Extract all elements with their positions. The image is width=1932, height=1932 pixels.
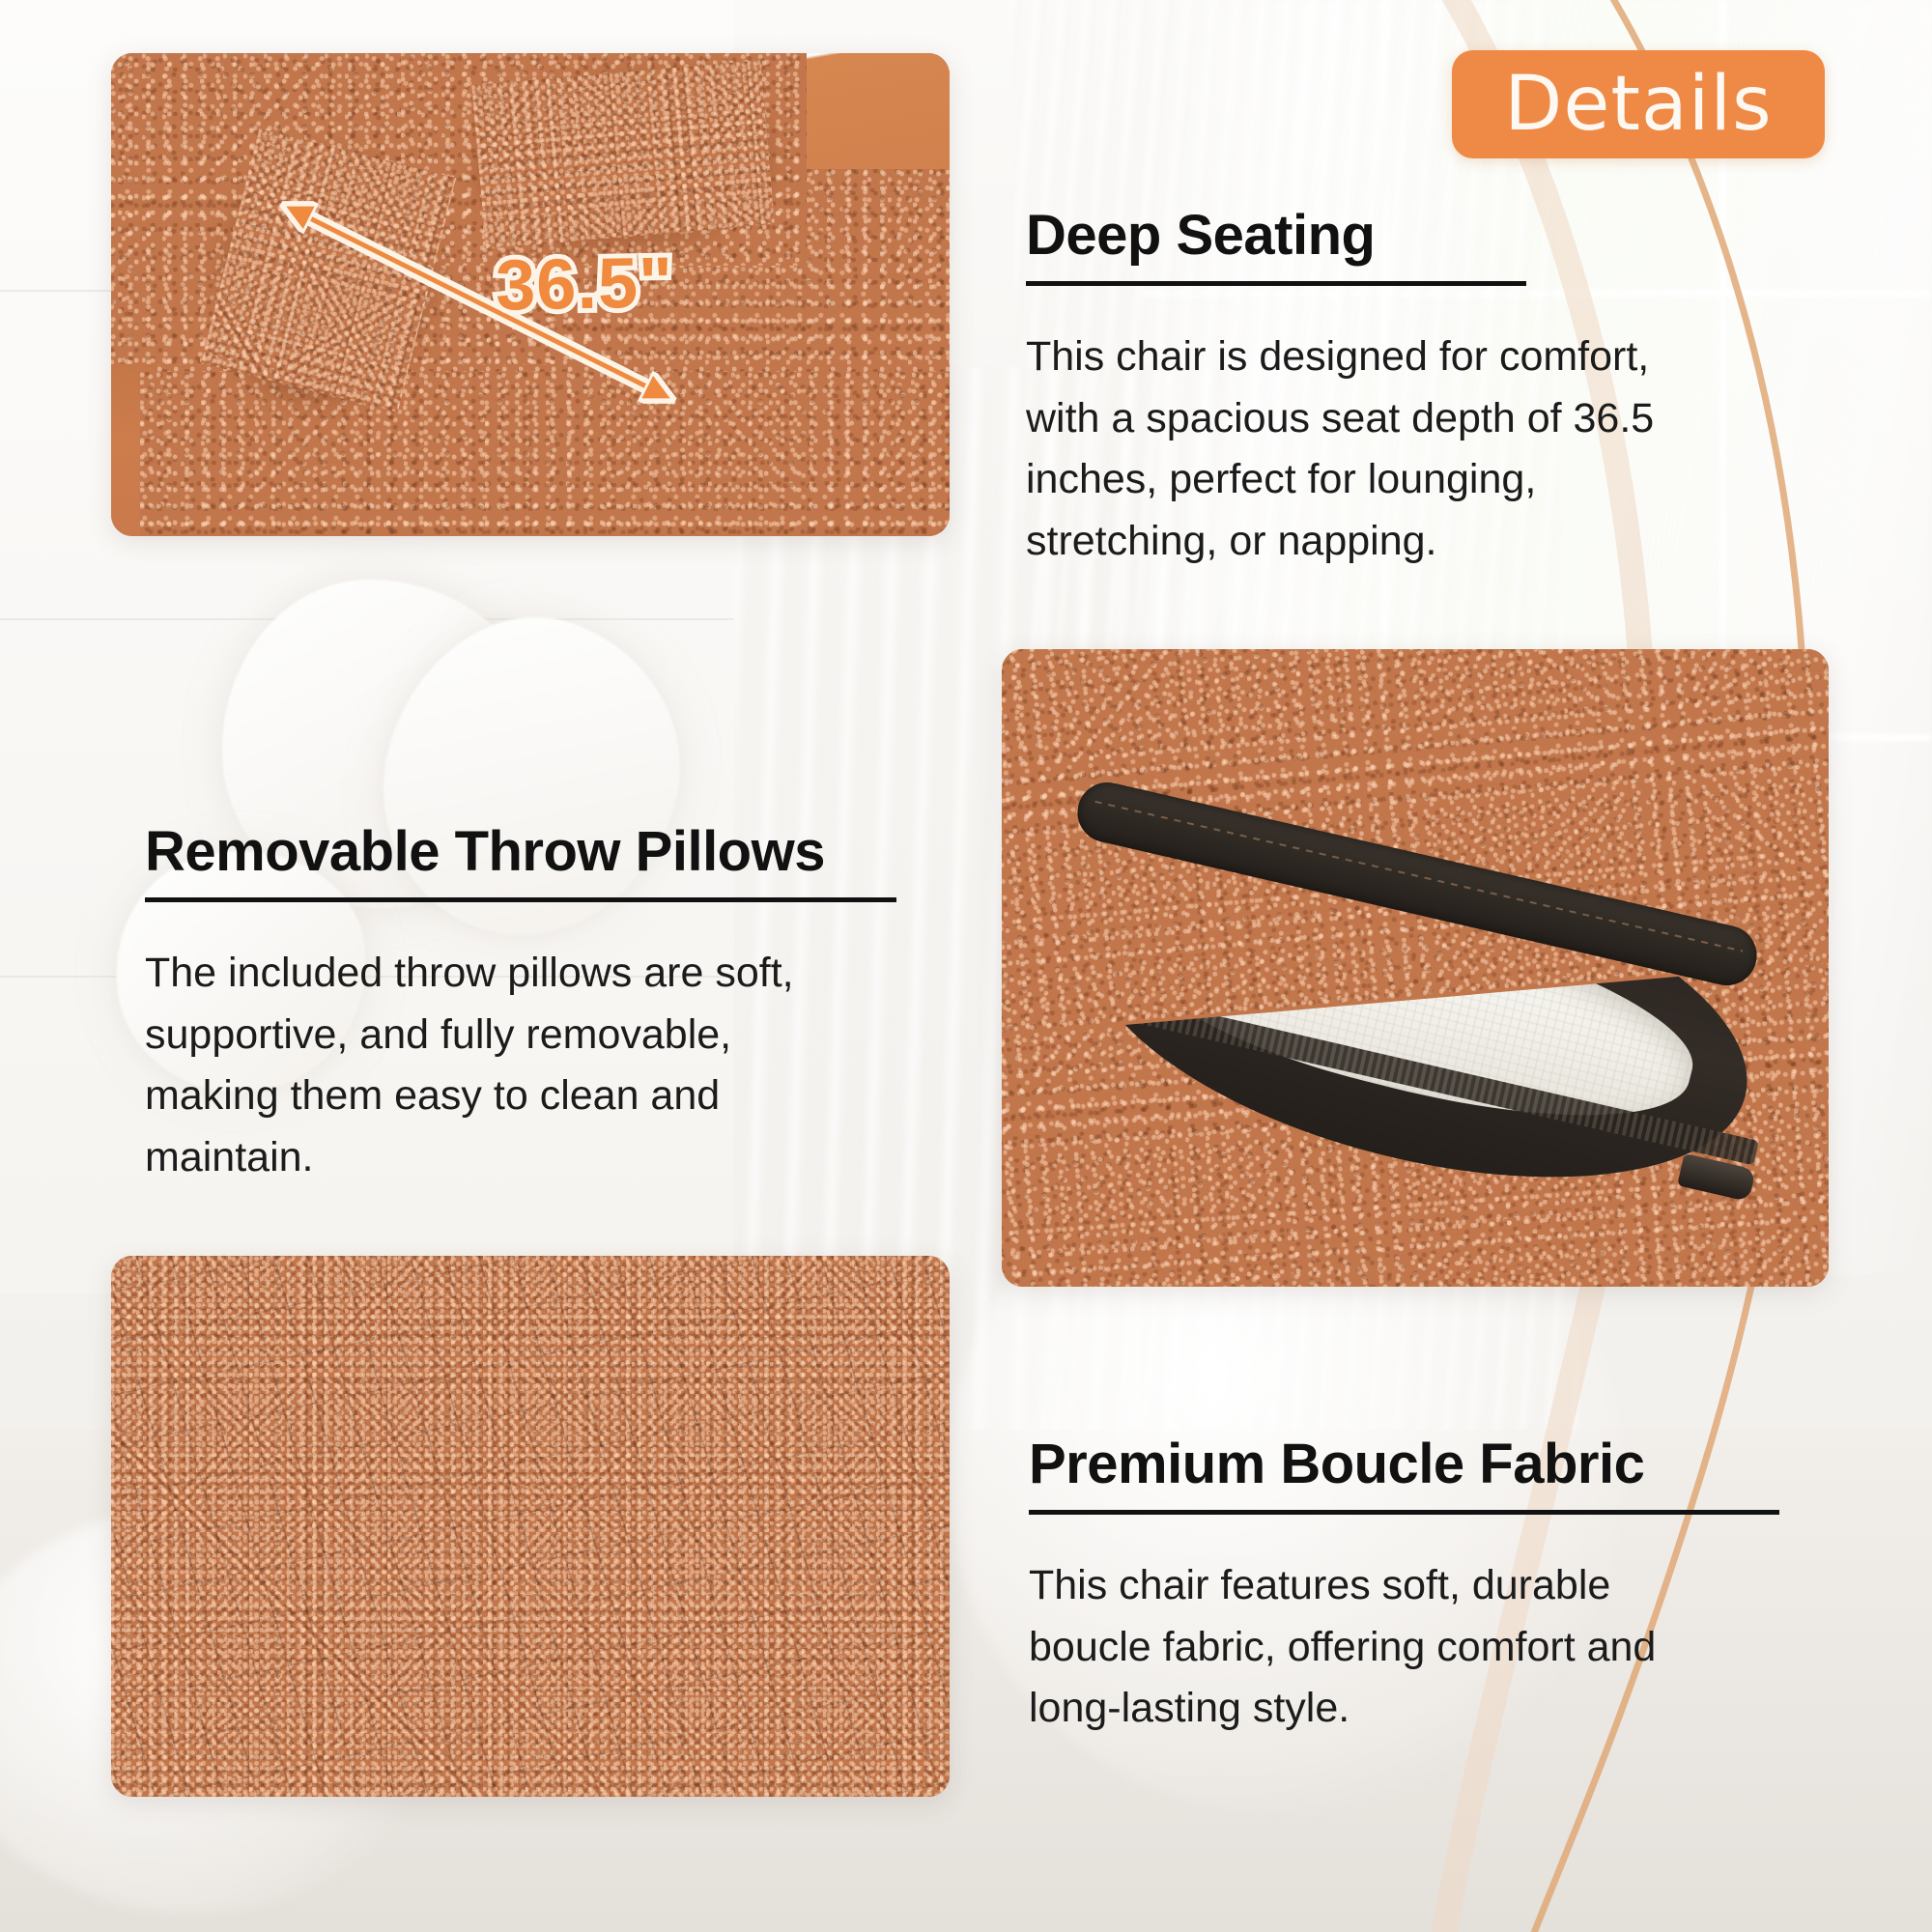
details-badge: Details: [1452, 50, 1825, 158]
section-premium-boucle-fabric: Premium Boucle Fabric This chair feature…: [1029, 1432, 1802, 1740]
section-heading: Removable Throw Pillows: [145, 819, 918, 884]
image-card-fabric-swatch: [111, 1256, 950, 1797]
heading-divider: [1026, 281, 1526, 286]
image-card-removable-pillows: [1002, 649, 1829, 1287]
image-card-deep-seating: 36.5": [111, 53, 950, 536]
section-removable-throw-pillows: Removable Throw Pillows The included thr…: [145, 819, 918, 1189]
heading-divider: [145, 897, 896, 902]
section-body: The included throw pillows are soft, sup…: [145, 943, 840, 1189]
section-body: This chair features soft, durable boucle…: [1029, 1555, 1744, 1740]
section-deep-seating: Deep Seating This chair is designed for …: [1026, 203, 1644, 573]
details-badge-label: Details: [1504, 61, 1772, 148]
dimension-label: 36.5": [495, 241, 674, 326]
heading-divider: [1029, 1510, 1779, 1515]
section-body: This chair is designed for comfort, with…: [1026, 327, 1683, 573]
section-heading: Premium Boucle Fabric: [1029, 1432, 1802, 1496]
section-heading: Deep Seating: [1026, 203, 1644, 268]
infographic-stage: 36.5" Deep Seating This chair is designe…: [0, 0, 1932, 1932]
